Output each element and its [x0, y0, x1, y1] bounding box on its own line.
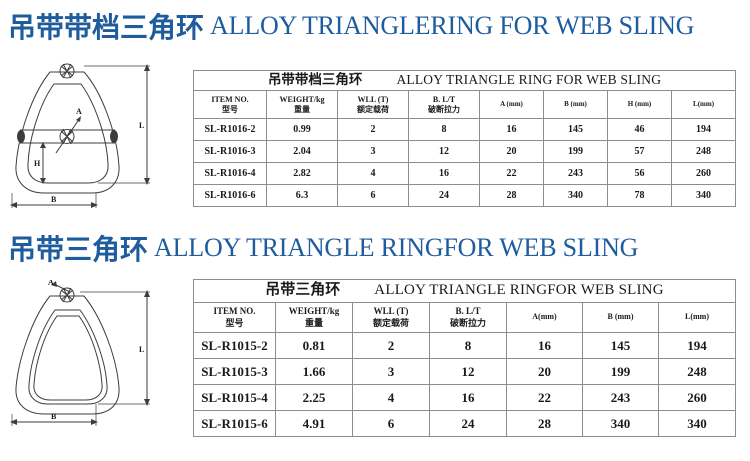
cell-breaking-load: 24 [409, 185, 480, 207]
cell-wll: 6 [338, 185, 409, 207]
cell-h: 78 [608, 185, 672, 207]
table-row: SL-R1016-6 6.3 6 24 28 340 78 340 [194, 185, 736, 207]
table-2-col-item-no: ITEM NO. 型号 [194, 303, 276, 333]
cell-l: 194 [672, 119, 736, 141]
table-2-caption-cn: 吊带三角环 [265, 281, 340, 301]
cell-l: 248 [659, 359, 736, 385]
cell-wll: 2 [353, 333, 430, 359]
table-2-header-row: ITEM NO. 型号 WEIGHT/kg 重量 WLL (T) 额定载荷 B.… [194, 303, 736, 333]
cell-item-no: SL-R1015-6 [194, 411, 276, 437]
cell-a: 22 [507, 385, 583, 411]
cell-l: 340 [659, 411, 736, 437]
table-2-caption-en: ALLOY TRIANGLE RINGFOR WEB SLING [374, 281, 663, 301]
cell-weight: 4.91 [276, 411, 353, 437]
table-1-col-l: L(mm) [672, 91, 736, 119]
triangle-ring-plain-drawing: A L B [10, 280, 185, 430]
cell-wll: 3 [353, 359, 430, 385]
drawing-2-label-b: B [51, 412, 57, 421]
cell-breaking-load: 12 [430, 359, 507, 385]
cell-breaking-load: 16 [430, 385, 507, 411]
cell-weight: 6.3 [267, 185, 338, 207]
cell-wll: 2 [338, 119, 409, 141]
drawing-2-label-l: L [139, 345, 144, 354]
table-1-header-row: ITEM NO. 型号 WEIGHT/kg 重量 WLL (T) 额定载荷 B.… [194, 91, 736, 119]
cell-h: 56 [608, 163, 672, 185]
table-1-col-wll: WLL (T) 额定载荷 [338, 91, 409, 119]
cell-weight: 0.81 [276, 333, 353, 359]
cell-a: 16 [480, 119, 544, 141]
cell-item-no: SL-R1016-4 [194, 163, 267, 185]
cell-weight: 2.82 [267, 163, 338, 185]
cell-b: 199 [544, 141, 608, 163]
table-2-caption: 吊带三角环 ALLOY TRIANGLE RINGFOR WEB SLING [194, 280, 736, 303]
cell-h: 46 [608, 119, 672, 141]
table-row: SL-R1015-3 1.66 3 12 20 199 248 [194, 359, 736, 385]
cell-wll: 3 [338, 141, 409, 163]
section-title-2-en: ALLOY TRIANGLE RINGFOR WEB SLING [154, 233, 638, 262]
table-1-col-breaking-load: B. L/T 破断拉力 [409, 91, 480, 119]
cell-item-no: SL-R1016-2 [194, 119, 267, 141]
cell-l: 260 [659, 385, 736, 411]
table-1-col-h: H (mm) [608, 91, 672, 119]
table-row: SL-R1015-4 2.25 4 16 22 243 260 [194, 385, 736, 411]
table-1-col-a: A (mm) [480, 91, 544, 119]
cell-b: 145 [583, 333, 659, 359]
triangle-ring-with-bar-drawing: A H L B [10, 58, 185, 213]
table-1-col-item-no: ITEM NO. 型号 [194, 91, 267, 119]
cell-b: 243 [544, 163, 608, 185]
cell-weight: 1.66 [276, 359, 353, 385]
table-row: SL-R1015-6 4.91 6 24 28 340 340 [194, 411, 736, 437]
table-row: SL-R1015-2 0.81 2 8 16 145 194 [194, 333, 736, 359]
spec-table-triangle-ring-plain: 吊带三角环 ALLOY TRIANGLE RINGFOR WEB SLING I… [193, 279, 736, 437]
cell-wll: 4 [353, 385, 430, 411]
table-1-col-weight: WEIGHT/kg 重量 [267, 91, 338, 119]
spec-table-triangle-ring-with-bar: 吊带带档三角环 ALLOY TRIANGLE RING FOR WEB SLIN… [193, 70, 736, 207]
cell-a: 28 [480, 185, 544, 207]
cell-b: 145 [544, 119, 608, 141]
cell-a: 20 [480, 141, 544, 163]
drawing-1-label-h: H [34, 159, 41, 168]
table-2-col-breaking-load: B. L/T 破断拉力 [430, 303, 507, 333]
drawing-2-label-a: A [48, 280, 54, 287]
cell-l: 194 [659, 333, 736, 359]
table-row: SL-R1016-4 2.82 4 16 22 243 56 260 [194, 163, 736, 185]
table-1-col-b: B (mm) [544, 91, 608, 119]
table-2-col-l: L(mm) [659, 303, 736, 333]
cell-a: 20 [507, 359, 583, 385]
drawing-1-label-a: A [76, 107, 82, 116]
section-title-2: 吊带三角环ALLOY TRIANGLE RINGFOR WEB SLING [8, 228, 638, 268]
cell-item-no: SL-R1015-3 [194, 359, 276, 385]
cell-item-no: SL-R1015-4 [194, 385, 276, 411]
table-row: SL-R1016-2 0.99 2 8 16 145 46 194 [194, 119, 736, 141]
cell-a: 16 [507, 333, 583, 359]
table-2-col-b: B (mm) [583, 303, 659, 333]
cell-b: 340 [583, 411, 659, 437]
cell-breaking-load: 12 [409, 141, 480, 163]
cell-l: 248 [672, 141, 736, 163]
table-1-caption-en: ALLOY TRIANGLE RING FOR WEB SLING [396, 72, 661, 89]
cell-weight: 0.99 [267, 119, 338, 141]
cell-weight: 2.04 [267, 141, 338, 163]
table-2-col-a: A(mm) [507, 303, 583, 333]
table-2-col-weight: WEIGHT/kg 重量 [276, 303, 353, 333]
cell-wll: 4 [338, 163, 409, 185]
cell-breaking-load: 8 [409, 119, 480, 141]
drawing-1-label-b: B [51, 195, 57, 204]
cell-item-no: SL-R1015-2 [194, 333, 276, 359]
cell-h: 57 [608, 141, 672, 163]
cell-b: 340 [544, 185, 608, 207]
cell-b: 199 [583, 359, 659, 385]
table-row: SL-R1016-3 2.04 3 12 20 199 57 248 [194, 141, 736, 163]
cell-breaking-load: 24 [430, 411, 507, 437]
cell-weight: 2.25 [276, 385, 353, 411]
cell-a: 22 [480, 163, 544, 185]
cell-l: 340 [672, 185, 736, 207]
table-1-caption-cn: 吊带带档三角环 [268, 72, 363, 89]
cell-breaking-load: 8 [430, 333, 507, 359]
cell-wll: 6 [353, 411, 430, 437]
table-1-caption: 吊带带档三角环 ALLOY TRIANGLE RING FOR WEB SLIN… [194, 71, 736, 91]
section-title-1-cn: 吊带带档三角环 [8, 13, 204, 44]
section-title-1-en: ALLOY TRIANGLERING FOR WEB SLING [210, 11, 694, 40]
section-title-1: 吊带带档三角环ALLOY TRIANGLERING FOR WEB SLING [8, 6, 694, 46]
drawing-1-label-l: L [139, 121, 144, 130]
section-title-2-cn: 吊带三角环 [8, 235, 148, 266]
cell-l: 260 [672, 163, 736, 185]
cell-a: 28 [507, 411, 583, 437]
cell-b: 243 [583, 385, 659, 411]
table-2-col-wll: WLL (T) 额定载荷 [353, 303, 430, 333]
cell-item-no: SL-R1016-6 [194, 185, 267, 207]
cell-item-no: SL-R1016-3 [194, 141, 267, 163]
cell-breaking-load: 16 [409, 163, 480, 185]
